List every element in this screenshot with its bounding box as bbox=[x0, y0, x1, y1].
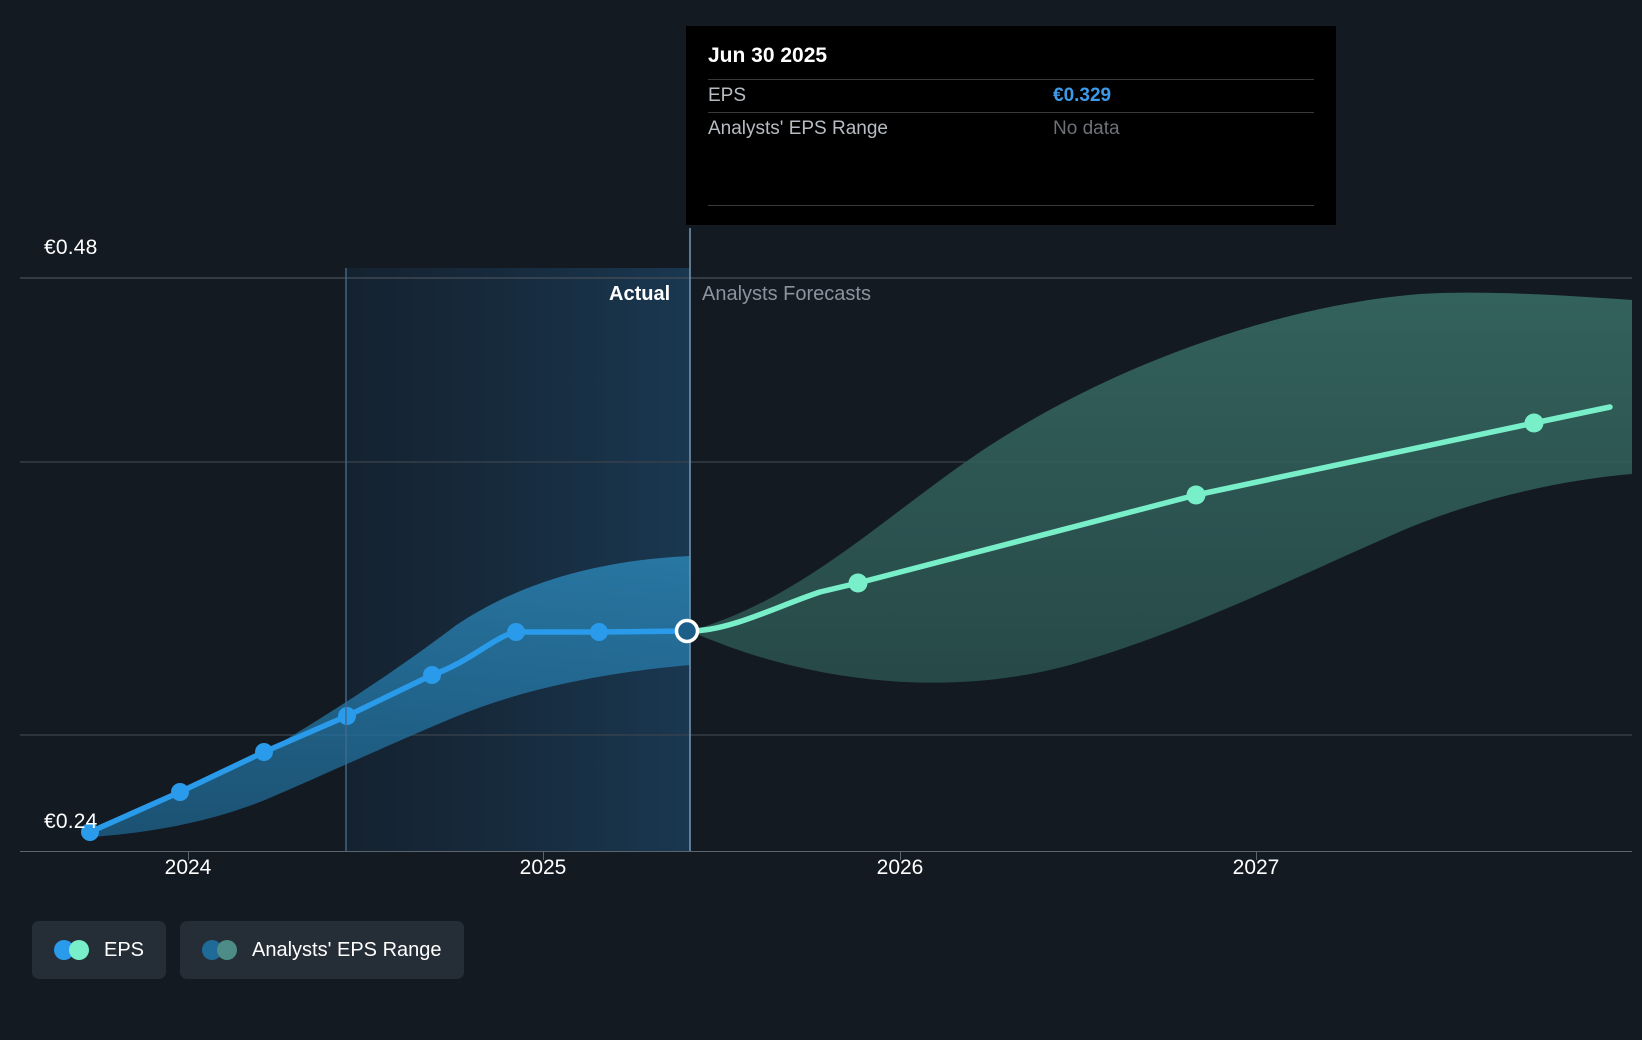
y-axis-label-max: €0.48 bbox=[44, 236, 98, 260]
tooltip-eps-value: €0.329 bbox=[1053, 85, 1111, 107]
actual-data-point[interactable] bbox=[507, 623, 525, 641]
actual-region-highlight bbox=[346, 268, 690, 851]
actual-data-point[interactable] bbox=[171, 783, 189, 801]
x-axis-tick-label-2024: 2024 bbox=[128, 856, 248, 880]
legend-label-analysts-eps-range: Analysts' EPS Range bbox=[252, 939, 441, 962]
x-axis-tick-label-2025: 2025 bbox=[483, 856, 603, 880]
chart-tooltip: Jun 30 2025 EPS €0.329 Analysts' EPS Ran… bbox=[686, 26, 1336, 225]
x-axis-tick-label-2027: 2027 bbox=[1196, 856, 1316, 880]
tooltip-date-title: Jun 30 2025 bbox=[708, 44, 1314, 79]
legend-item-analysts-eps-range[interactable]: Analysts' EPS Range bbox=[180, 921, 463, 979]
tooltip-range-value: No data bbox=[1053, 118, 1120, 140]
legend-swatch-eps-icon bbox=[54, 940, 90, 960]
x-axis-line bbox=[20, 851, 1632, 852]
actual-region-label: Actual bbox=[609, 283, 670, 306]
y-axis-label-min: €0.24 bbox=[44, 810, 98, 834]
actual-data-point[interactable] bbox=[255, 743, 273, 761]
legend-label-eps: EPS bbox=[104, 939, 144, 962]
tooltip-row-range: Analysts' EPS Range No data bbox=[708, 112, 1314, 145]
chart-page: €0.48 €0.24 Actual Analysts Forecasts 20… bbox=[0, 0, 1642, 1040]
tooltip-bottom-divider bbox=[708, 205, 1314, 206]
forecast-range-band bbox=[690, 293, 1632, 683]
selected-data-point[interactable] bbox=[677, 621, 698, 642]
x-axis-tick-label-2026: 2026 bbox=[840, 856, 960, 880]
legend-swatch-range-icon bbox=[202, 940, 238, 960]
tooltip-eps-key: EPS bbox=[708, 85, 1053, 107]
chart-legend: EPS Analysts' EPS Range bbox=[32, 921, 464, 979]
tooltip-spacer bbox=[708, 145, 1314, 205]
actual-data-point[interactable] bbox=[423, 666, 441, 684]
actual-data-point[interactable] bbox=[590, 623, 608, 641]
forecast-region-label: Analysts Forecasts bbox=[702, 283, 871, 306]
forecast-data-point[interactable] bbox=[1525, 414, 1544, 433]
actual-data-point[interactable] bbox=[338, 707, 356, 725]
forecast-data-point[interactable] bbox=[1187, 486, 1206, 505]
tooltip-range-key: Analysts' EPS Range bbox=[708, 118, 1053, 140]
forecast-data-point[interactable] bbox=[849, 574, 868, 593]
legend-item-eps[interactable]: EPS bbox=[32, 921, 166, 979]
tooltip-row-eps: EPS €0.329 bbox=[708, 79, 1314, 112]
